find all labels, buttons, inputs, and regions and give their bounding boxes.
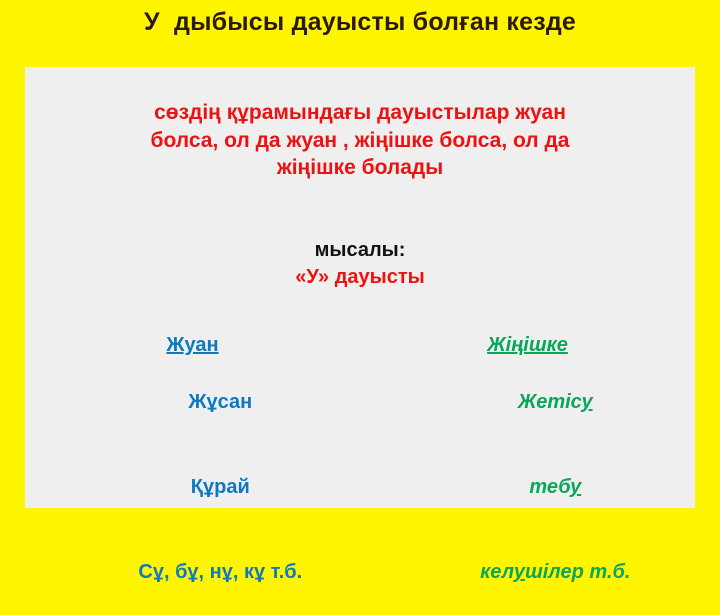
slide-root: У дыбысы дауысты болған кезде сөздің құр…	[0, 0, 720, 540]
rule-paragraph: сөздің құрамындағы дауыстылар жуан болса…	[53, 99, 667, 182]
example-block: мысалы: «У» дауысты	[25, 237, 695, 291]
column-hard-item-2: Құрай	[25, 445, 360, 530]
word-suffix: , н	[199, 561, 222, 583]
word-underlined-letter: ұ	[203, 476, 214, 498]
word-columns: Жуан Жұсан Құрай Сұ, бұ, нұ, кұ т.б. Жің…	[25, 331, 695, 615]
column-hard-item-1: Жұсан	[25, 359, 360, 444]
column-hard-vowels: Жуан Жұсан Құрай Сұ, бұ, нұ, кұ т.б.	[25, 331, 360, 615]
word-prefix: С	[138, 561, 152, 583]
example-label: мысалы:	[25, 237, 695, 264]
page-title: У дыбысы дауысты болған кезде	[0, 8, 720, 37]
word-suffix: , к	[233, 561, 254, 583]
word-underlined-letter: у	[570, 476, 581, 498]
word-underlined-letter: у	[514, 561, 525, 583]
rule-line-1: сөздің құрамындағы дауыстылар жуан	[53, 99, 667, 127]
word-underlined-letter: у	[582, 391, 593, 413]
rule-line-3: жіңішке болады	[53, 154, 667, 182]
content-panel: сөздің құрамындағы дауыстылар жуан болса…	[25, 67, 695, 508]
column-hard-heading: Жуан	[25, 331, 360, 359]
word-prefix: Ж	[188, 391, 206, 413]
example-value: «У» дауысты	[25, 264, 695, 291]
column-soft-item-1: Жетісу	[360, 359, 695, 444]
word-underlined-letter: ұ	[254, 561, 265, 583]
word-underlined-letter: ұ	[222, 561, 233, 583]
column-soft-last-line: келушілер т.б.	[360, 530, 695, 615]
word-suffix: сан	[218, 391, 253, 413]
word-prefix: Қ	[191, 476, 203, 498]
word-suffix: шілер т.б.	[525, 561, 630, 583]
column-hard-last-line: Сұ, бұ, нұ, кұ т.б.	[25, 530, 360, 615]
rule-line-2: болса, ол да жуан , жіңішке болса, ол да	[53, 127, 667, 155]
word-prefix: Жетіс	[518, 391, 582, 413]
word-prefix: кел	[480, 561, 514, 583]
column-soft-vowels: Жіңішке Жетісу тебу келушілер т.б.	[360, 331, 695, 615]
word-underlined-letter: ұ	[206, 391, 217, 413]
word-suffix: рай	[214, 476, 250, 498]
column-soft-heading: Жіңішке	[360, 331, 695, 359]
word-suffix: т.б.	[265, 561, 302, 583]
word-underlined-letter: ұ	[187, 561, 198, 583]
column-soft-item-2: тебу	[360, 445, 695, 530]
word-prefix: теб	[529, 476, 570, 498]
word-underlined-letter: ұ	[153, 561, 164, 583]
word-suffix: , б	[164, 561, 187, 583]
